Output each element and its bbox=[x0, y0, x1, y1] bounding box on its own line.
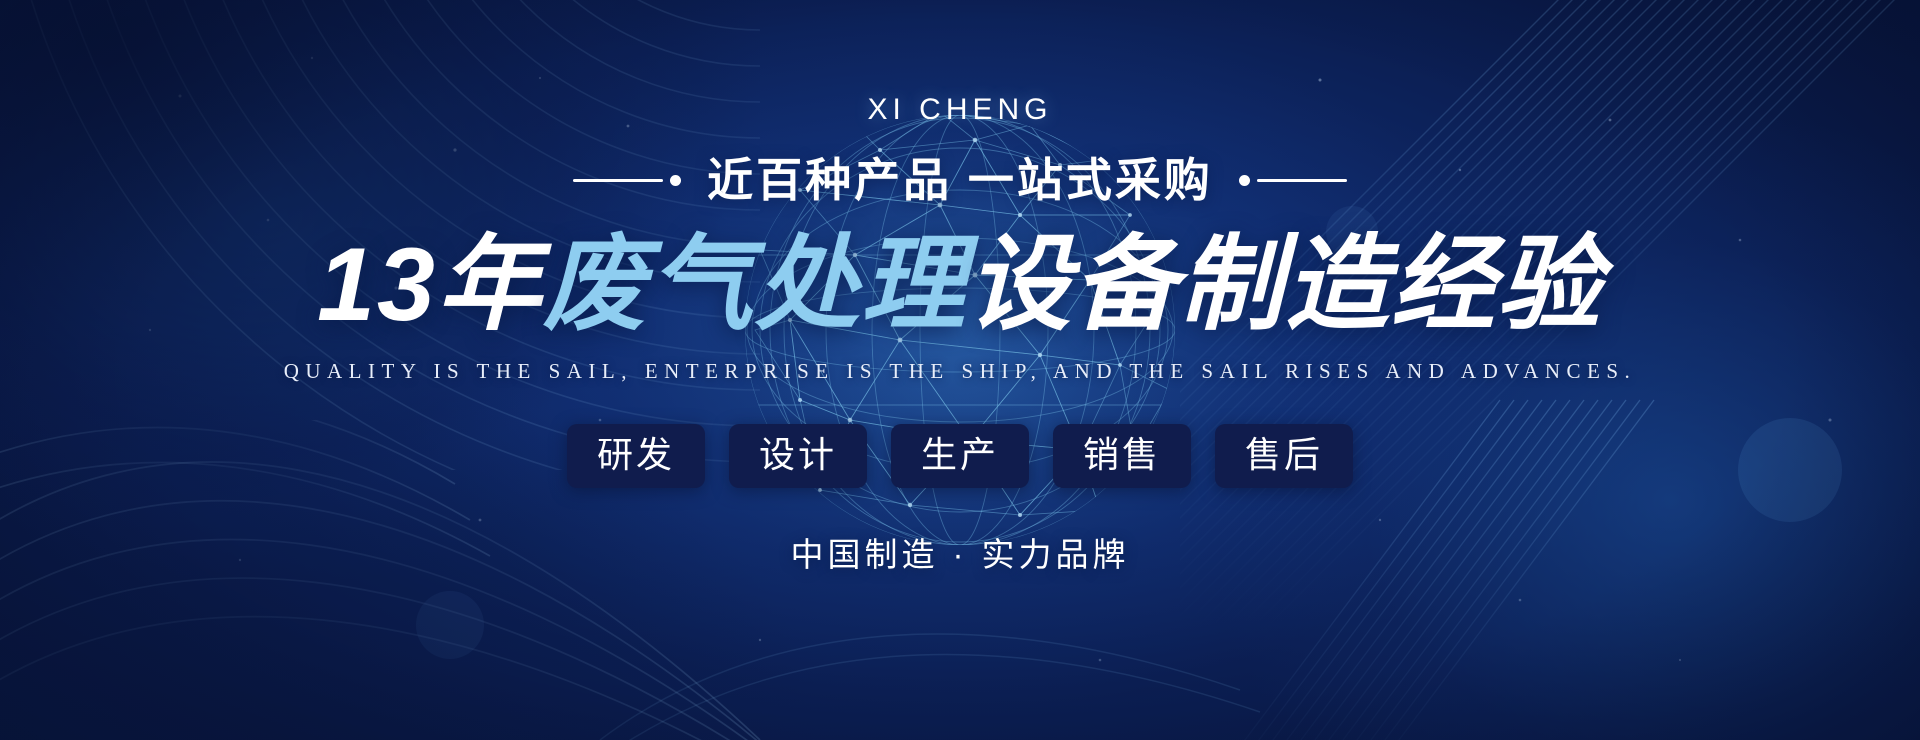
hero-banner: XI CHENG 近百种产品 一站式采购 13年废气处理设备制造经验 QUALI… bbox=[0, 0, 1920, 740]
headline-years: 13年 bbox=[317, 227, 543, 343]
subheadline-row: 近百种产品 一站式采购 bbox=[573, 157, 1347, 203]
service-pill[interactable]: 研发 bbox=[567, 424, 705, 488]
service-pill-list: 研发 设计 生产 销售 售后 bbox=[567, 424, 1353, 488]
line-dot-left-icon bbox=[573, 175, 681, 186]
service-pill[interactable]: 设计 bbox=[729, 424, 867, 488]
footer-slogan-left: 中国制造 bbox=[791, 536, 939, 573]
headline-suffix: 设备制造经验 bbox=[967, 227, 1603, 343]
tagline-english: QUALITY IS THE SAIL, ENTERPRISE IS THE S… bbox=[284, 361, 1637, 382]
banner-content: XI CHENG 近百种产品 一站式采购 13年废气处理设备制造经验 QUALI… bbox=[0, 0, 1920, 740]
service-pill[interactable]: 售后 bbox=[1215, 424, 1353, 488]
headline-highlight: 废气处理 bbox=[543, 227, 967, 343]
brand-name-en: XI CHENG bbox=[867, 95, 1052, 125]
service-pill[interactable]: 销售 bbox=[1053, 424, 1191, 488]
line-dot-right-icon bbox=[1239, 175, 1347, 186]
main-headline: 13年废气处理设备制造经验 bbox=[317, 229, 1603, 341]
footer-separator: · bbox=[939, 536, 982, 573]
footer-slogan-right: 实力品牌 bbox=[982, 536, 1130, 573]
service-pill[interactable]: 生产 bbox=[891, 424, 1029, 488]
footer-slogan: 中国制造·实力品牌 bbox=[791, 538, 1130, 571]
subheadline-text: 近百种产品 一站式采购 bbox=[707, 157, 1213, 203]
